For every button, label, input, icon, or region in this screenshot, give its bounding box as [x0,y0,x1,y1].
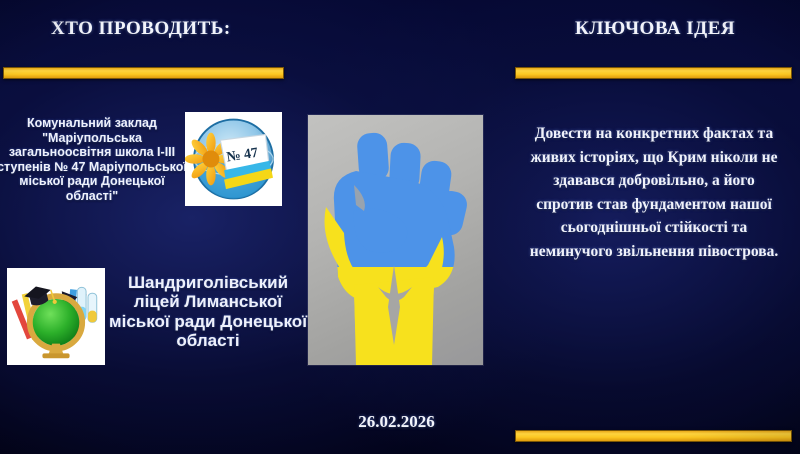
section-title-key-idea: КЛЮЧОВА ІДЕЯ [575,18,735,40]
key-idea-paragraph: Довести на конкретних фактах та живих іс… [528,122,780,263]
section-title-who-conducts: ХТО ПРОВОДИТЬ: [51,18,231,40]
gold-divider-right-top [515,67,792,79]
globe-education-icon [7,268,105,365]
presentation-slide: ХТО ПРОВОДИТЬ: КЛЮЧОВА ІДЕЯ Комунальний … [0,0,800,454]
gold-divider-left-top [3,67,284,79]
school-emblem-icon: № 47 [185,112,282,206]
raised-fist-icon [308,115,483,365]
organization-name-school-47: Комунальний заклад "Маріупольська загаль… [0,116,190,203]
event-date: 26.02.2026 [309,412,484,432]
organization-name-lyceum: Шандриголівський ліцей Лиманської місько… [108,273,308,351]
gold-divider-right-bottom [515,430,792,442]
